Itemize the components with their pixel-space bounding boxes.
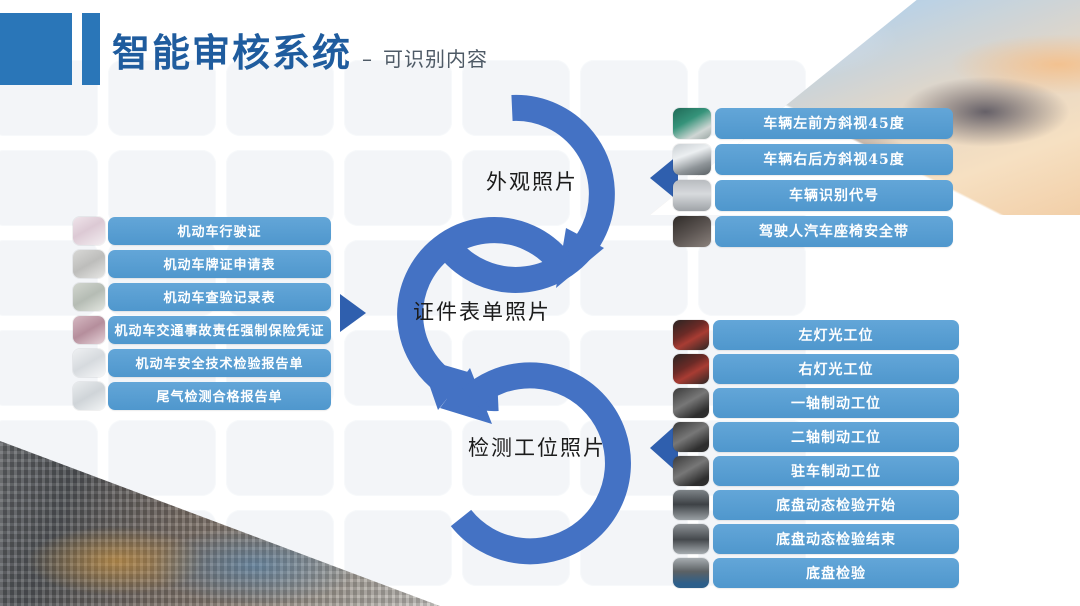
list-item[interactable]: 驾驶人汽车座椅安全带 bbox=[673, 215, 953, 247]
list-item[interactable]: 二轴制动工位 bbox=[673, 422, 959, 452]
list-item-label[interactable]: 机动车交通事故责任强制保险凭证 bbox=[108, 316, 331, 344]
cycle-ring-documents bbox=[410, 230, 560, 424]
list-item[interactable]: 左灯光工位 bbox=[673, 320, 959, 350]
seat-belt-thumb bbox=[673, 216, 711, 247]
list-item-label[interactable]: 尾气检测合格报告单 bbox=[108, 382, 331, 410]
list-item-label[interactable]: 底盘检验 bbox=[713, 558, 959, 588]
plate-application-form-thumb bbox=[73, 250, 105, 278]
axle-one-brake-station-thumb bbox=[673, 388, 709, 418]
watermark-cell bbox=[344, 150, 452, 226]
list-item[interactable]: 一轴制动工位 bbox=[673, 388, 959, 418]
page-title-subtitle: 可识别内容 bbox=[383, 43, 488, 72]
header-accent-block-large bbox=[0, 13, 72, 85]
vin-plate-thumb bbox=[673, 180, 711, 211]
watermark-cell bbox=[226, 420, 334, 496]
watermark-cell bbox=[226, 150, 334, 226]
watermark-cell bbox=[344, 330, 452, 406]
watermark-cell bbox=[462, 330, 570, 406]
list-item[interactable]: 机动车查验记录表 bbox=[73, 282, 331, 311]
list-item[interactable]: 车辆右后方斜视45度 bbox=[673, 143, 953, 175]
vehicle-rear-right-45-thumb bbox=[673, 144, 711, 175]
list-item-label[interactable]: 机动车查验记录表 bbox=[108, 283, 331, 311]
chassis-dynamic-end-thumb bbox=[673, 524, 709, 554]
list-item[interactable]: 车辆识别代号 bbox=[673, 179, 953, 211]
list-item-label[interactable]: 驻车制动工位 bbox=[713, 456, 959, 486]
watermark-cell bbox=[580, 510, 688, 586]
list-item[interactable]: 机动车交通事故责任强制保险凭证 bbox=[73, 315, 331, 344]
slide-canvas: 智能审核系统 – 可识别内容 外观照片 证件表单照片 检测工位照片 机动车行驶证… bbox=[0, 0, 1080, 606]
watermark-cell bbox=[462, 510, 570, 586]
right-headlight-station-thumb bbox=[673, 354, 709, 384]
parking-brake-station-thumb bbox=[673, 456, 709, 486]
cycle-label-inspection: 检测工位照片 bbox=[468, 432, 606, 462]
cycle-label-documents: 证件表单照片 bbox=[413, 296, 551, 326]
watermark-cell bbox=[580, 330, 688, 406]
compulsory-insurance-certificate-thumb bbox=[73, 316, 105, 344]
list-item-label[interactable]: 车辆左前方斜视45度 bbox=[715, 108, 953, 139]
axle-two-brake-station-thumb bbox=[673, 422, 709, 452]
list-item[interactable]: 机动车安全技术检验报告单 bbox=[73, 348, 331, 377]
list-item[interactable]: 底盘检验 bbox=[673, 558, 959, 588]
list-item-label[interactable]: 右灯光工位 bbox=[713, 354, 959, 384]
watermark-cell bbox=[344, 420, 452, 496]
list-item-label[interactable]: 左灯光工位 bbox=[713, 320, 959, 350]
list-item[interactable]: 底盘动态检验开始 bbox=[673, 490, 959, 520]
list-item[interactable]: 右灯光工位 bbox=[673, 354, 959, 384]
watermark-cell bbox=[108, 420, 216, 496]
watermark-cell bbox=[344, 510, 452, 586]
driving-license-thumb bbox=[73, 217, 105, 245]
inspection-record-form-thumb bbox=[73, 283, 105, 311]
chassis-dynamic-start-thumb bbox=[673, 490, 709, 520]
triangle-right-icon bbox=[340, 294, 366, 332]
header-accent-block-small bbox=[82, 13, 100, 85]
left-headlight-station-thumb bbox=[673, 320, 709, 350]
watermark-cell bbox=[580, 60, 688, 136]
chassis-inspection-thumb bbox=[673, 558, 709, 588]
list-item[interactable]: 机动车牌证申请表 bbox=[73, 249, 331, 278]
list-item[interactable]: 车辆左前方斜视45度 bbox=[673, 107, 953, 139]
page-title-separator: – bbox=[362, 47, 373, 71]
list-item-label[interactable]: 机动车牌证申请表 bbox=[108, 250, 331, 278]
page-title-main: 智能审核系统 bbox=[112, 22, 352, 77]
watermark-cell bbox=[580, 240, 688, 316]
list-item-label[interactable]: 车辆右后方斜视45度 bbox=[715, 144, 953, 175]
list-item-label[interactable]: 一轴制动工位 bbox=[713, 388, 959, 418]
page-title: 智能审核系统 – 可识别内容 bbox=[112, 22, 488, 77]
list-item-label[interactable]: 车辆识别代号 bbox=[715, 180, 953, 211]
appearance-list: 车辆左前方斜视45度车辆右后方斜视45度车辆识别代号驾驶人汽车座椅安全带 bbox=[673, 107, 953, 251]
list-item[interactable]: 驻车制动工位 bbox=[673, 456, 959, 486]
list-item[interactable]: 底盘动态检验结束 bbox=[673, 524, 959, 554]
emission-test-report-thumb bbox=[73, 382, 105, 410]
list-item-label[interactable]: 机动车安全技术检验报告单 bbox=[108, 349, 331, 377]
safety-inspection-report-thumb bbox=[73, 349, 105, 377]
watermark-cell bbox=[0, 150, 98, 226]
cycle-label-appearance: 外观照片 bbox=[486, 166, 578, 196]
list-item-label[interactable]: 二轴制动工位 bbox=[713, 422, 959, 452]
list-item-label[interactable]: 驾驶人汽车座椅安全带 bbox=[715, 216, 953, 247]
watermark-cell bbox=[108, 150, 216, 226]
city-light-glow-blue bbox=[150, 526, 360, 606]
cycle-ring-appearance bbox=[449, 108, 604, 288]
list-item-label[interactable]: 底盘动态检验开始 bbox=[713, 490, 959, 520]
documents-list: 机动车行驶证机动车牌证申请表机动车查验记录表机动车交通事故责任强制保险凭证机动车… bbox=[73, 216, 331, 414]
list-item-label[interactable]: 机动车行驶证 bbox=[108, 217, 331, 245]
inspection-list: 左灯光工位右灯光工位一轴制动工位二轴制动工位驻车制动工位底盘动态检验开始底盘动态… bbox=[673, 320, 959, 592]
list-item[interactable]: 机动车行驶证 bbox=[73, 216, 331, 245]
list-item-label[interactable]: 底盘动态检验结束 bbox=[713, 524, 959, 554]
list-item[interactable]: 尾气检测合格报告单 bbox=[73, 381, 331, 410]
watermark-cell bbox=[698, 240, 806, 316]
vehicle-front-left-45-thumb bbox=[673, 108, 711, 139]
